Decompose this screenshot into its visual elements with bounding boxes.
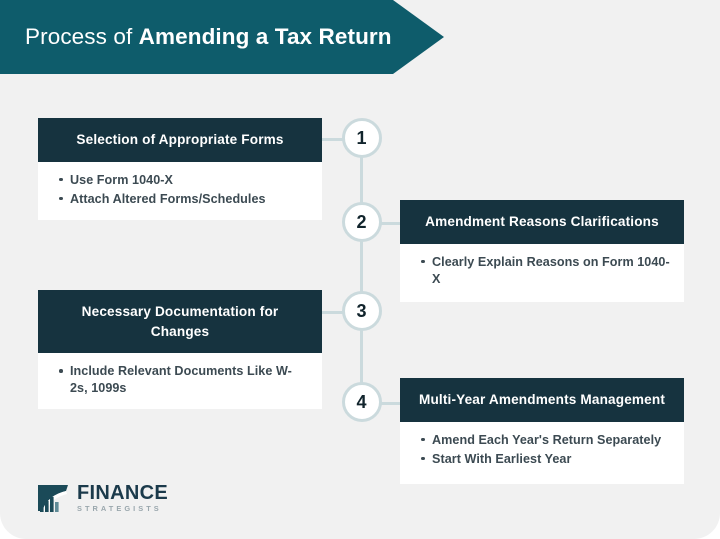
logo-wordmark: FINANCE STRATEGISTS — [77, 483, 168, 512]
logo-secondary-text: STRATEGISTS — [77, 505, 168, 512]
step-number-badge-4: 4 — [342, 382, 382, 422]
step-card-3: Necessary Documentation for Changes Incl… — [38, 290, 322, 409]
step-number-badge-2: 2 — [342, 202, 382, 242]
step-2-title: Amendment Reasons Clarifications — [400, 200, 684, 244]
list-item: Include Relevant Documents Like W-2s, 10… — [70, 363, 308, 397]
list-item: Start With Earliest Year — [432, 451, 670, 468]
step-3-bullet-list: Include Relevant Documents Like W-2s, 10… — [52, 363, 308, 397]
step-4-bullet-list: Amend Each Year's Return Separately Star… — [414, 432, 670, 468]
list-item: Amend Each Year's Return Separately — [432, 432, 670, 449]
list-item: Use Form 1040-X — [70, 172, 308, 189]
page-title: Process of Amending a Tax Return — [0, 24, 392, 50]
page-title-bold: Amending a Tax Return — [139, 24, 392, 49]
step-4-body: Amend Each Year's Return Separately Star… — [400, 422, 684, 484]
step-3-body: Include Relevant Documents Like W-2s, 10… — [38, 353, 322, 409]
connector-spine — [360, 138, 363, 404]
header-banner: Process of Amending a Tax Return — [0, 0, 444, 74]
step-card-1: Selection of Appropriate Forms Use Form … — [38, 118, 322, 220]
step-1-title: Selection of Appropriate Forms — [38, 118, 322, 162]
step-2-body: Clearly Explain Reasons on Form 1040-X — [400, 244, 684, 302]
brand-logo: FINANCE STRATEGISTS — [36, 483, 168, 513]
list-item: Clearly Explain Reasons on Form 1040-X — [432, 254, 670, 288]
infographic-canvas: Process of Amending a Tax Return Selecti… — [0, 0, 720, 539]
finance-strategists-logo-icon — [36, 483, 70, 513]
page-title-regular: Process of — [25, 24, 139, 49]
step-4-title: Multi-Year Amendments Management — [400, 378, 684, 422]
list-item: Attach Altered Forms/Schedules — [70, 191, 308, 208]
step-number-badge-3: 3 — [342, 291, 382, 331]
step-number-badge-1: 1 — [342, 118, 382, 158]
logo-primary-text: FINANCE — [77, 483, 168, 503]
step-1-bullet-list: Use Form 1040-X Attach Altered Forms/Sch… — [52, 172, 308, 208]
step-2-bullet-list: Clearly Explain Reasons on Form 1040-X — [414, 254, 670, 288]
step-card-4: Multi-Year Amendments Management Amend E… — [400, 378, 684, 484]
step-card-2: Amendment Reasons Clarifications Clearly… — [400, 200, 684, 302]
step-1-body: Use Form 1040-X Attach Altered Forms/Sch… — [38, 162, 322, 220]
step-3-title: Necessary Documentation for Changes — [38, 290, 322, 353]
